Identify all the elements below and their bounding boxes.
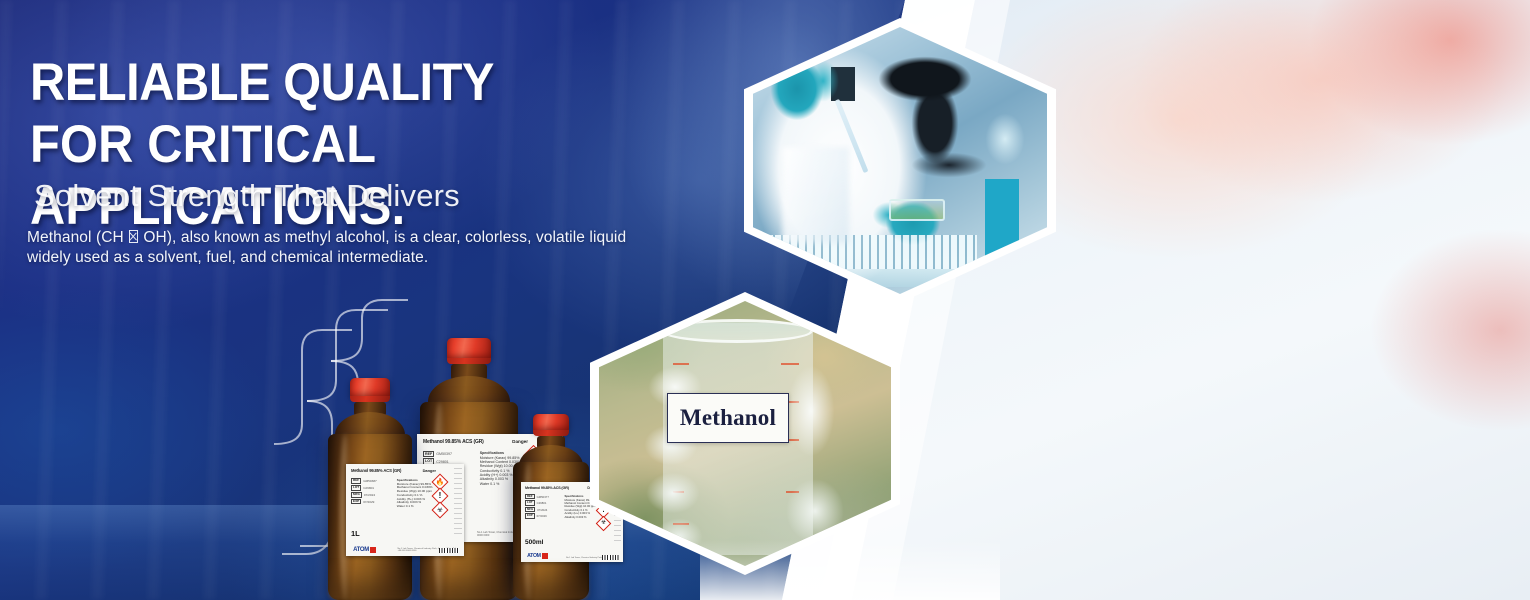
bottle-cap-icon bbox=[447, 338, 491, 360]
bottle-reflection bbox=[513, 552, 589, 600]
label-field-value: C29801 bbox=[537, 501, 547, 505]
bottle-1000ml: Methanol 99.85% ACS (GR) Danger REF GM50… bbox=[328, 378, 412, 600]
label-field-key: LOT bbox=[351, 485, 361, 491]
bottle-cap-icon bbox=[350, 378, 390, 398]
bottle-label-1000ml: Methanol 99.85% ACS (GR) Danger REF GM50… bbox=[346, 464, 464, 556]
label-product-title: Methanol 99.85% ACS (GR) bbox=[423, 439, 484, 445]
label-header: Methanol 99.85% ACS (GR) Danger bbox=[351, 468, 460, 473]
label-field-value: 07/2024 bbox=[364, 493, 375, 497]
banner-subheadline: Solvent Strength That Delivers bbox=[34, 178, 460, 214]
label-field-row: REF GM50387 bbox=[351, 478, 392, 484]
bottle-cap-icon bbox=[533, 414, 569, 432]
label-field-row: REF GM50377 bbox=[525, 494, 561, 499]
sample-dish bbox=[889, 199, 945, 221]
bottle-reflection bbox=[328, 552, 412, 600]
bottle-500ml: Methanol 99.85% ACS (GR) Danger REF GM50… bbox=[513, 414, 589, 600]
label-product-title: Methanol 99.85% ACS (GR) bbox=[525, 486, 569, 490]
product-bottle-group: Methanol 99.85% ACS (GR) Danger REF GM50… bbox=[300, 295, 630, 600]
label-spec-line: Water 0.1 % bbox=[397, 505, 435, 509]
label-field-key: REF bbox=[423, 451, 434, 457]
hex-image-laboratory-pipetting bbox=[744, 18, 1056, 303]
banner-description: Methanol (CH OH), also known as methyl a… bbox=[27, 228, 667, 268]
label-field-key: MFG bbox=[525, 507, 535, 512]
label-field-row: EXP 07/2029 bbox=[525, 513, 561, 518]
label-field-value: C29801 bbox=[363, 486, 374, 490]
label-field-row: MFG 07/2024 bbox=[351, 492, 392, 498]
gloved-hand bbox=[639, 341, 849, 561]
label-field-value: 07/2029 bbox=[363, 500, 374, 504]
label-field-value: GM50397 bbox=[436, 452, 452, 456]
label-field-row: REF GM50397 bbox=[423, 451, 474, 457]
label-field-key: LOT bbox=[525, 500, 535, 505]
label-field-list: REF GM50377 LOT C29801 MFG 07/2024 EXP bbox=[525, 494, 561, 520]
label-field-value: 07/2024 bbox=[537, 508, 547, 512]
methanol-promo-banner: RELIABLE QUALITY FOR CRITICAL APPLICATIO… bbox=[0, 0, 1530, 600]
label-field-key: REF bbox=[351, 478, 361, 484]
label-product-title: Methanol 99.85% ACS (GR) bbox=[351, 468, 401, 473]
label-field-row: LOT C29801 bbox=[525, 500, 561, 505]
hex-image-methanol-beaker: Methanol bbox=[590, 292, 900, 575]
headline-line-2: FOR CRITICAL APPLICATIONS. bbox=[30, 114, 729, 238]
label-field-key: EXP bbox=[525, 513, 535, 518]
label-field-row: EXP 07/2029 bbox=[351, 499, 392, 505]
label-field-row: MFG 07/2024 bbox=[525, 507, 561, 512]
beaker-methanol-label: Methanol bbox=[667, 393, 789, 443]
label-field-value: 07/2029 bbox=[537, 514, 547, 518]
label-side-strip bbox=[454, 468, 462, 536]
label-field-key: REF bbox=[525, 494, 535, 499]
label-field-value: GM50377 bbox=[537, 495, 549, 499]
label-danger-word: Danger bbox=[423, 468, 436, 473]
label-field-key: EXP bbox=[351, 499, 361, 505]
label-ghs-pictogram-group: 🔥 ! ☣ bbox=[434, 476, 446, 516]
lab-coat-fold bbox=[783, 147, 849, 243]
ghs-health-hazard-icon: ☣ bbox=[432, 502, 449, 519]
label-field-row: LOT C29801 bbox=[351, 485, 392, 491]
label-volume-500ml: 500ml bbox=[525, 539, 543, 546]
label-field-value: GM50387 bbox=[363, 479, 377, 483]
headline-line-1: RELIABLE QUALITY bbox=[30, 53, 494, 112]
bottle-reflection bbox=[420, 552, 518, 600]
label-specifications: Specifications Moisture (Karax) 99.85% M… bbox=[397, 478, 435, 509]
label-barcode-icon bbox=[439, 548, 459, 553]
label-field-key: MFG bbox=[351, 492, 362, 498]
description-text-before-formula: Methanol (CH bbox=[27, 229, 124, 246]
label-field-list: REF GM50387 LOT C29801 MFG 07/2024 EXP bbox=[351, 478, 392, 509]
missing-glyph-box-icon bbox=[129, 230, 139, 243]
label-volume-1000ml: 1L bbox=[351, 529, 360, 538]
